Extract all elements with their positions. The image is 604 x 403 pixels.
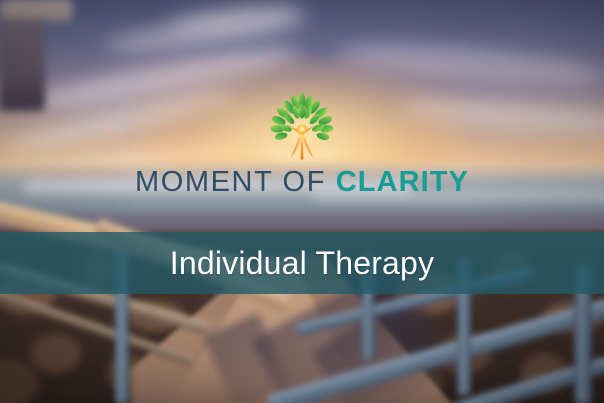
promo-banner-card: MOMENT OF CLARITY Individual Therapy [0,0,604,403]
wordmark-bold-text: CLARITY [336,166,469,198]
brand-logo-block: MOMENT OF CLARITY [0,92,604,197]
wordmark-light-text: MOMENT OF [135,166,326,198]
title-banner: Individual Therapy [0,232,604,294]
background-photo [0,0,604,403]
railing-post-cap-left [0,0,72,22]
brand-wordmark: MOMENT OF CLARITY [135,168,469,197]
tree-of-life-icon [263,92,341,164]
banner-title: Individual Therapy [170,247,435,279]
